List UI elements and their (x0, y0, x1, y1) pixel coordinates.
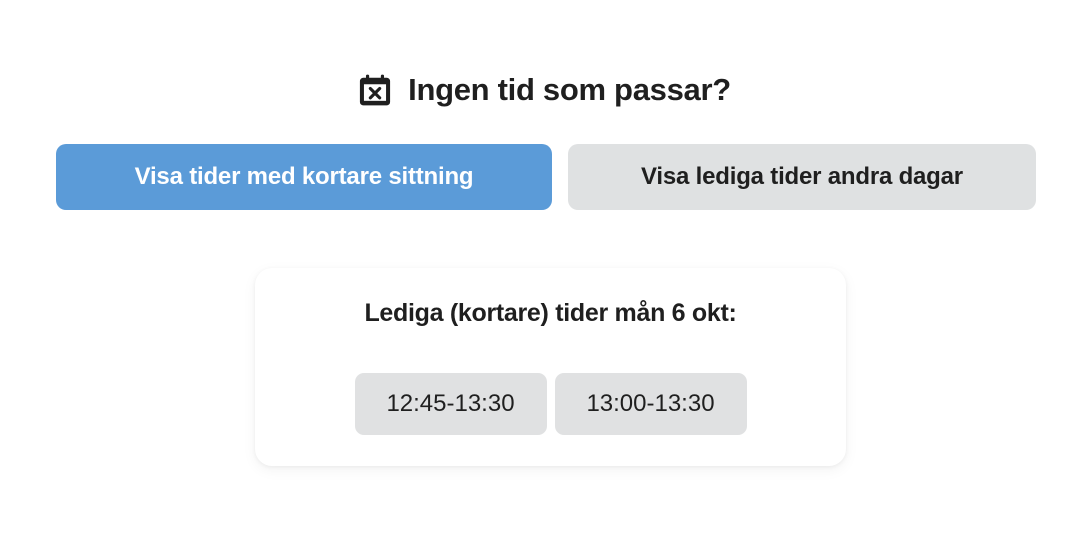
slots-card-heading: Lediga (kortare) tider mån 6 okt: (255, 301, 846, 326)
time-slot-chip[interactable]: 13:00-13:30 (555, 373, 747, 435)
slot-list: 12:45-13:30 13:00-13:30 (255, 373, 846, 435)
calendar-x-icon (358, 73, 392, 107)
show-other-days-button[interactable]: Visa lediga tider andra dagar (568, 144, 1036, 210)
panel-header: Ingen tid som passar? (0, 62, 1089, 116)
alternative-actions: Visa tider med kortare sittning Visa led… (56, 144, 1036, 210)
show-shorter-sitting-button[interactable]: Visa tider med kortare sittning (56, 144, 552, 210)
available-slots-card: Lediga (kortare) tider mån 6 okt: 12:45-… (255, 268, 846, 466)
page-title: Ingen tid som passar? (408, 74, 731, 105)
no-suitable-time-panel: Ingen tid som passar? Visa tider med kor… (0, 0, 1089, 536)
time-slot-chip[interactable]: 12:45-13:30 (355, 373, 547, 435)
